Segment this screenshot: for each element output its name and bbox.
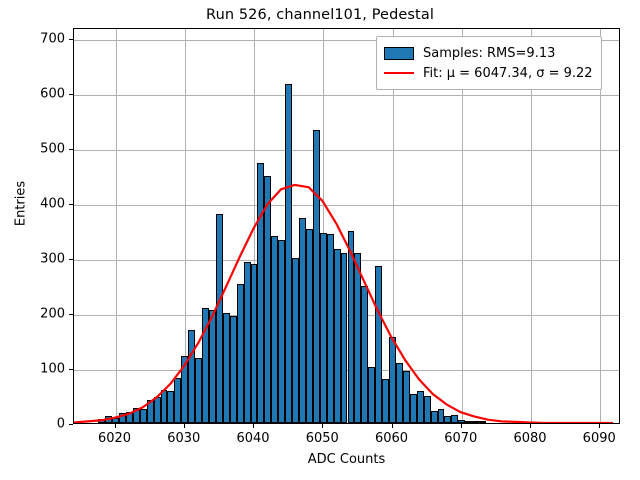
x-tick-label: 6060 — [362, 431, 422, 446]
chart-legend: Samples: RMS=9.13 Fit: μ = 6047.34, σ = … — [376, 36, 602, 90]
histogram-bar — [396, 363, 403, 424]
x-axis-label: ADC Counts — [73, 452, 620, 467]
histogram-bar — [202, 308, 209, 424]
y-tick-mark — [69, 424, 73, 425]
histogram-bar — [257, 163, 264, 423]
histogram-bar — [327, 234, 334, 423]
histogram-bar — [264, 176, 271, 424]
histogram-bar — [285, 84, 292, 423]
y-tick-mark — [69, 314, 73, 315]
histogram-bar — [451, 415, 458, 423]
histogram-bar — [438, 409, 445, 423]
y-tick-label: 0 — [19, 417, 65, 432]
y-tick-mark — [69, 204, 73, 205]
histogram-bar — [216, 214, 223, 423]
histogram-bar — [209, 310, 216, 423]
histogram-bar — [140, 409, 147, 423]
chart-title: Run 526, channel101, Pedestal — [0, 7, 640, 23]
y-tick-mark — [69, 149, 73, 150]
histogram-bar — [417, 391, 424, 423]
histogram-bar — [375, 266, 382, 423]
x-tick-mark — [461, 424, 462, 428]
histogram-bar — [479, 421, 486, 423]
histogram-bar — [382, 379, 389, 423]
x-tick-label: 6040 — [223, 431, 283, 446]
legend-patch-icon — [384, 47, 414, 60]
y-tick-mark — [69, 259, 73, 260]
histogram-bar — [188, 330, 195, 424]
histogram-bar — [361, 286, 368, 424]
x-tick-mark — [253, 424, 254, 428]
y-tick-label: 200 — [19, 307, 65, 322]
histogram-bar — [271, 236, 278, 423]
histogram-bar — [133, 408, 140, 423]
legend-item-fit: Fit: μ = 6047.34, σ = 9.22 — [384, 63, 593, 83]
histogram-bar — [126, 412, 133, 423]
histogram-bar — [313, 130, 320, 423]
histogram-bar — [389, 337, 396, 423]
x-tick-label: 6020 — [85, 431, 145, 446]
histogram-bar — [458, 420, 465, 423]
x-tick-label: 6070 — [431, 431, 491, 446]
histogram-bar — [444, 416, 451, 423]
x-tick-mark — [599, 424, 600, 428]
histogram-bar — [292, 258, 299, 423]
legend-item-samples: Samples: RMS=9.13 — [384, 43, 593, 63]
histogram-bar — [403, 371, 410, 423]
histogram-bar — [112, 418, 119, 424]
legend-label-samples: Samples: RMS=9.13 — [423, 46, 555, 61]
histogram-bar — [174, 378, 181, 423]
histogram-bar — [472, 421, 479, 423]
histogram-bar — [306, 229, 313, 423]
x-tick-mark — [184, 424, 185, 428]
histogram-bar — [195, 358, 202, 423]
x-tick-mark — [392, 424, 393, 428]
histogram-bar — [244, 262, 251, 423]
histogram-bar — [154, 397, 161, 423]
histogram-bar — [299, 218, 306, 423]
histogram-bar — [181, 356, 188, 423]
histogram-bar — [237, 284, 244, 423]
legend-line-icon — [384, 72, 414, 74]
histogram-bar — [348, 231, 355, 424]
histogram-bar — [410, 394, 417, 423]
x-tick-label: 6080 — [500, 431, 560, 446]
histogram-bar — [147, 400, 154, 423]
histogram-bar — [161, 390, 168, 423]
y-tick-mark — [69, 39, 73, 40]
histogram-bar — [230, 316, 237, 423]
chart-figure: Run 526, channel101, Pedestal 0100200300… — [0, 0, 640, 480]
histogram-bar — [424, 396, 431, 424]
y-axis-label: Entries — [14, 114, 29, 294]
histogram-bar — [119, 413, 126, 423]
histogram-bar — [354, 253, 361, 424]
x-tick-label: 6090 — [569, 431, 629, 446]
histogram-bar — [167, 391, 174, 423]
y-tick-label: 600 — [19, 87, 65, 102]
histogram-bar — [465, 421, 472, 423]
x-tick-mark — [322, 424, 323, 428]
y-tick-label: 700 — [19, 32, 65, 47]
histogram-bar — [251, 264, 258, 424]
y-tick-mark — [69, 369, 73, 370]
y-tick-label: 100 — [19, 362, 65, 377]
histogram-bar — [105, 416, 112, 423]
histogram-bar — [431, 411, 438, 423]
histogram-bar — [98, 419, 105, 423]
x-tick-mark — [115, 424, 116, 428]
histogram-bar — [341, 253, 348, 424]
x-tick-label: 6050 — [292, 431, 352, 446]
histogram-bar — [368, 367, 375, 423]
histogram-bar — [334, 249, 341, 423]
histogram-bar — [320, 233, 327, 423]
x-tick-label: 6030 — [154, 431, 214, 446]
x-tick-mark — [530, 424, 531, 428]
legend-label-fit: Fit: μ = 6047.34, σ = 9.22 — [423, 66, 593, 81]
histogram-bar — [278, 240, 285, 423]
y-tick-mark — [69, 94, 73, 95]
histogram-bar — [223, 313, 230, 423]
